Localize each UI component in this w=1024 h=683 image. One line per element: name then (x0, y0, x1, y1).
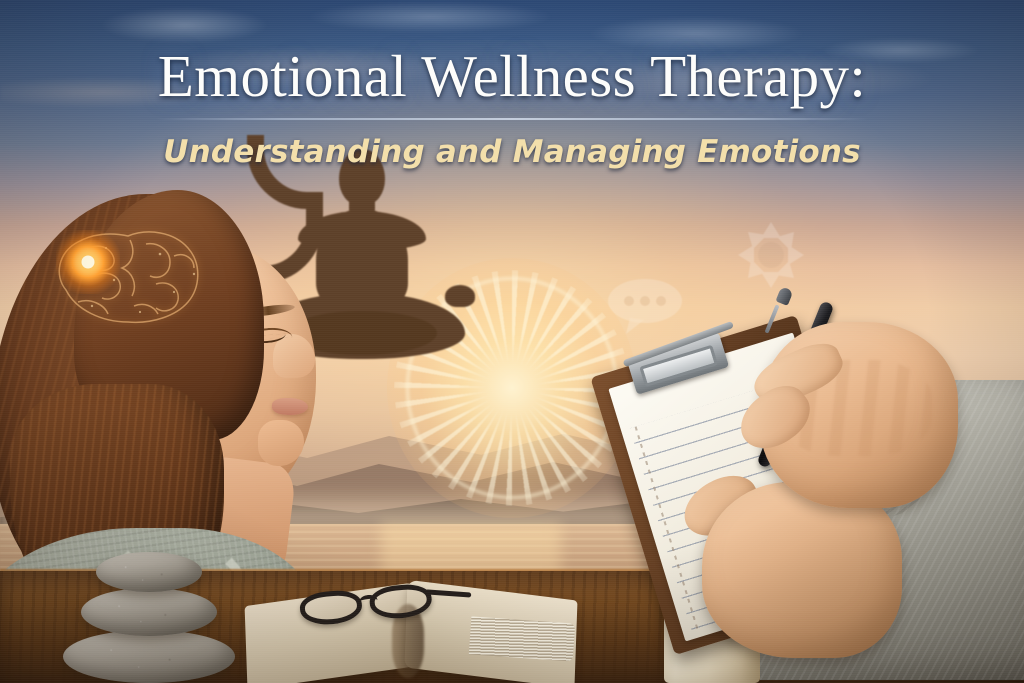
lens-left (299, 589, 364, 627)
stone-bottom (63, 630, 235, 683)
lips (272, 398, 308, 415)
wellness-hero-banner: Emotional Wellness Therapy: Understandin… (0, 0, 1024, 683)
page-title: Emotional Wellness Therapy: (0, 46, 1024, 106)
title-block: Emotional Wellness Therapy: Understandin… (0, 46, 1024, 170)
title-divider (156, 118, 868, 120)
stone-middle (81, 588, 217, 636)
lens-right (368, 582, 433, 620)
lotus-circle-icon (734, 218, 808, 292)
lower-hand (702, 482, 902, 658)
brain-light-core (82, 256, 95, 269)
therapist-hands (610, 296, 1024, 683)
page-subtitle: Understanding and Managing Emotions (0, 134, 1024, 170)
book-page-edges (469, 616, 575, 661)
zen-stones (56, 552, 242, 683)
stone-top (96, 552, 202, 592)
